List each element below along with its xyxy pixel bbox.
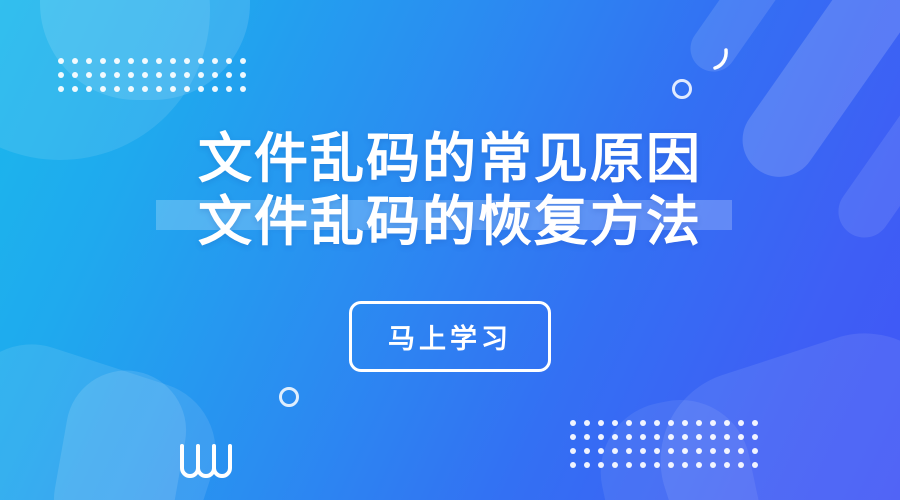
promo-banner: 文件乱码的常见原因 文件乱码的恢复方法 马上学习 [0,0,900,500]
headline-line-2: 文件乱码的恢复方法 [198,191,702,254]
banner-content: 文件乱码的常见原因 文件乱码的恢复方法 马上学习 [0,0,900,500]
headline-group: 文件乱码的常见原因 文件乱码的恢复方法 [198,128,702,253]
headline-line-1: 文件乱码的常见原因 [198,128,702,191]
learn-now-button[interactable]: 马上学习 [349,301,551,372]
